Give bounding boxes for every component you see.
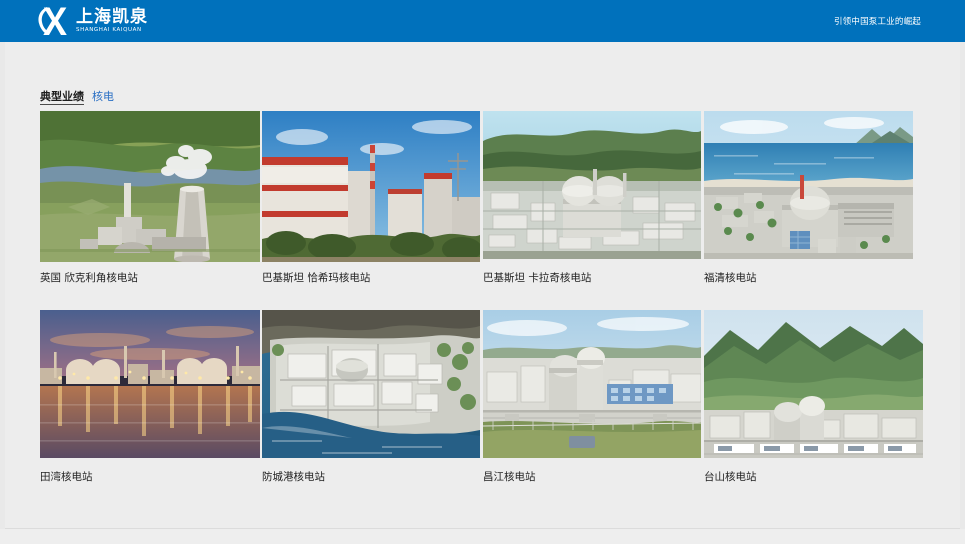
card-caption: 田湾核电站 bbox=[40, 470, 260, 484]
gallery-card[interactable]: 防城港核电站 bbox=[262, 310, 480, 507]
card-caption: 防城港核电站 bbox=[262, 470, 480, 484]
card-caption: 巴基斯坦 恰希玛核电站 bbox=[262, 271, 480, 285]
card-caption: 巴基斯坦 卡拉奇核电站 bbox=[483, 271, 701, 285]
gallery-card[interactable]: 昌江核电站 bbox=[483, 310, 701, 507]
page-bottom-strip bbox=[0, 529, 965, 544]
site-header: 上海凯泉 SHANGHAI KAIQUAN 引领中国泵工业的崛起 bbox=[0, 0, 965, 42]
brand-wordmark: 上海凯泉 SHANGHAI KAIQUAN bbox=[76, 5, 148, 37]
section-heading: 典型业绩 核电 bbox=[40, 90, 114, 105]
tianwan-npp-photo[interactable] bbox=[40, 310, 260, 458]
gallery-row: 英国 欣克利角核电站 bbox=[40, 111, 930, 308]
section-subtitle[interactable]: 核电 bbox=[92, 90, 114, 103]
gallery-card[interactable]: 巴基斯坦 卡拉奇核电站 bbox=[483, 111, 701, 308]
gallery-card[interactable]: 英国 欣克利角核电站 bbox=[40, 111, 260, 308]
card-caption: 英国 欣克利角核电站 bbox=[40, 271, 260, 285]
card-caption: 台山核电站 bbox=[704, 470, 923, 484]
gallery-card[interactable]: 福清核电站 bbox=[704, 111, 913, 308]
fuqing-npp-render[interactable] bbox=[704, 111, 913, 259]
gallery-card[interactable]: 台山核电站 bbox=[704, 310, 923, 507]
taishan-npp-photo[interactable] bbox=[704, 310, 923, 458]
gallery-card[interactable]: 巴基斯坦 恰希玛核电站 bbox=[262, 111, 480, 308]
performance-gallery-grid: 英国 欣克利角核电站 bbox=[40, 111, 930, 507]
fangchenggang-npp-photo[interactable] bbox=[262, 310, 480, 458]
slide-page: 上海凯泉 SHANGHAI KAIQUAN 引领中国泵工业的崛起 典型业绩 核电 bbox=[0, 0, 965, 544]
brand-name-cn: 上海凯泉 bbox=[76, 8, 148, 27]
gallery-row: 田湾核电站 bbox=[40, 310, 930, 507]
card-caption: 福清核电站 bbox=[704, 271, 913, 285]
chashma-npp-photo[interactable] bbox=[262, 111, 480, 262]
gallery-card[interactable]: 田湾核电站 bbox=[40, 310, 260, 507]
changjiang-npp-photo[interactable] bbox=[483, 310, 701, 458]
content-area: 典型业绩 核电 bbox=[5, 42, 960, 528]
card-caption: 昌江核电站 bbox=[483, 470, 701, 484]
page-title: 典型业绩 bbox=[40, 90, 84, 105]
karachi-npp-render[interactable] bbox=[483, 111, 701, 259]
brand-name-en: SHANGHAI KAIQUAN bbox=[76, 27, 148, 34]
kaiquan-x-mark-icon bbox=[36, 5, 70, 37]
hinkley-point-npp-photo[interactable] bbox=[40, 111, 260, 262]
brand-logo[interactable]: 上海凯泉 SHANGHAI KAIQUAN bbox=[36, 4, 148, 38]
header-slogan: 引领中国泵工业的崛起 bbox=[834, 0, 921, 42]
